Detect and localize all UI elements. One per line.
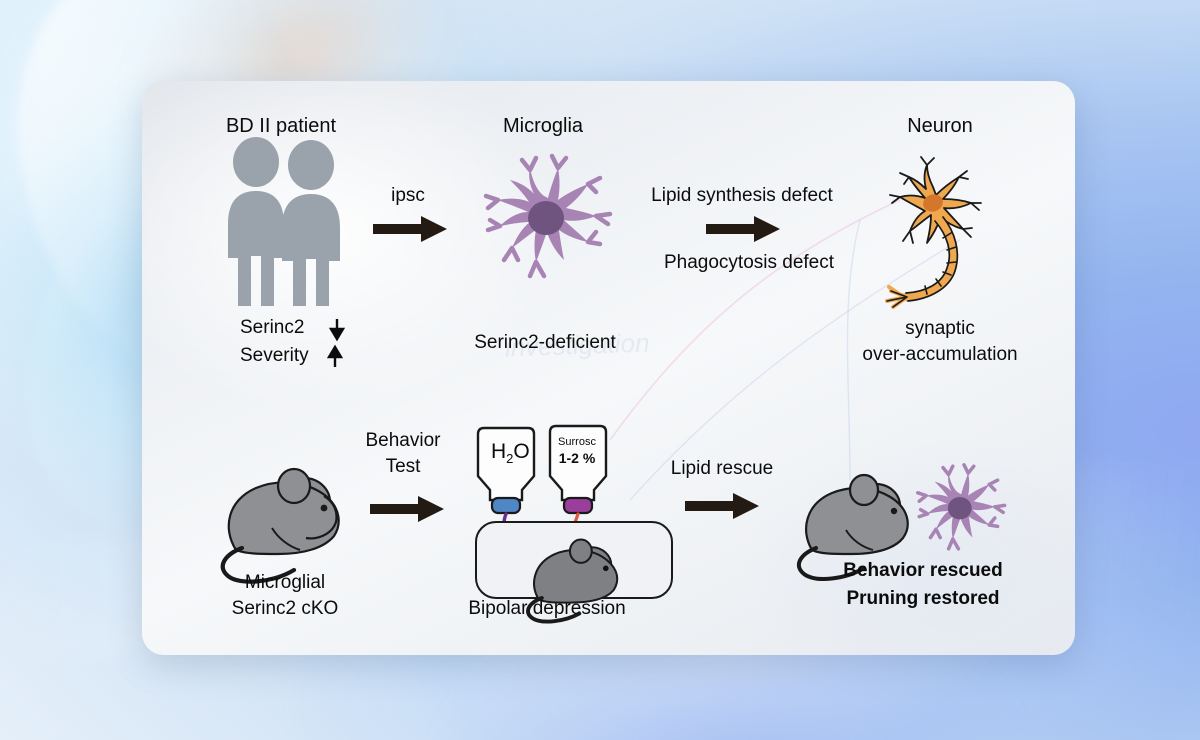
two-person-silhouette-icon [218,138,350,308]
neuron-title: Neuron [907,115,973,139]
patient-caption-severity: Severity [240,345,309,367]
up-arrow-icon [326,344,344,368]
figure-stage: investigation BD II patient Serinc2 Seve… [0,0,1200,740]
neuron-caption-line1: synaptic [905,318,975,340]
rescue-caption-line2: Pruning restored [846,588,999,610]
mouse-icon [212,462,372,572]
rescue-caption-line1: Behavior rescued [843,560,1002,582]
mouse-ko-caption-line1: Microglial [245,572,325,594]
arrow3-label-line2: Test [386,456,421,478]
right-arrow-icon [373,215,449,245]
mouse-ko-caption-line2: Serinc2 cKO [232,598,339,620]
microglia-cell-icon [908,462,1016,570]
arrow1-label: ipsc [391,185,425,207]
microglia-caption: Serinc2-deficient [474,332,616,354]
arrow2-label-above: Lipid synthesis defect [651,185,833,207]
patient-caption-serinc2: Serinc2 [240,317,304,339]
arrow3-label-line1: Behavior [366,430,441,452]
right-arrow-icon [370,495,446,525]
bottle-water-label: H2O [491,440,530,467]
microglia-title: Microglia [503,115,583,139]
right-arrow-icon [706,215,782,245]
bottle-sucrose-label-line2: 1-2 % [559,450,596,467]
arrow4-label: Lipid rescue [671,458,773,480]
microglia-cell-icon [472,152,624,304]
patient-title: BD II patient [226,115,336,139]
bottle-sucrose-label-line1: Surrosc [558,436,596,449]
arrow2-label-below: Phagocytosis defect [664,252,834,274]
neuron-caption-line2: over-accumulation [862,344,1017,366]
right-arrow-icon [685,492,761,522]
neuron-cell-icon [855,155,1000,320]
down-arrow-icon [328,318,346,342]
test-setup-caption: Bipolar depression [468,598,625,620]
